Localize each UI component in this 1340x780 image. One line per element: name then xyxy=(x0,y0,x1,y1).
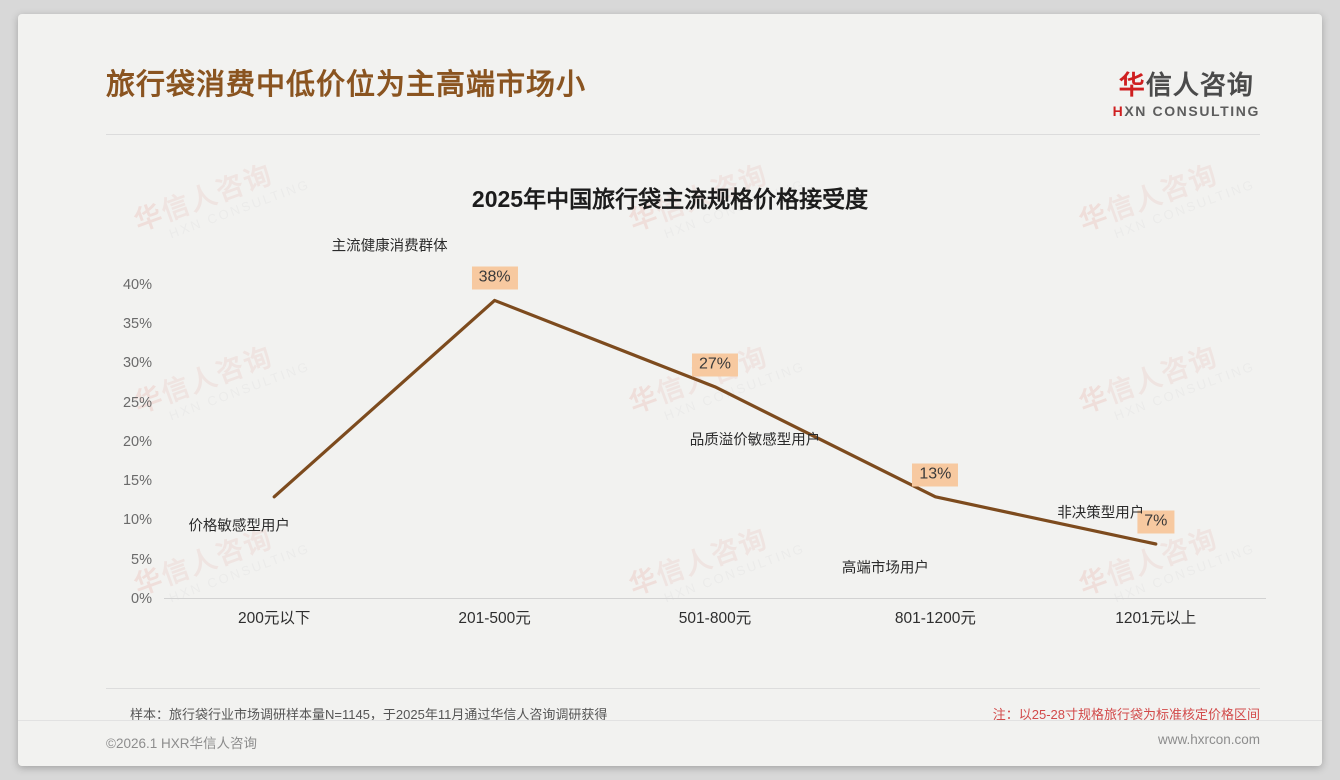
logo-en-red: H xyxy=(1113,103,1125,119)
y-axis-tick: 5% xyxy=(131,552,152,568)
y-axis-tick: 10% xyxy=(123,512,152,528)
series-annotation: 高端市场用户 xyxy=(842,556,929,577)
y-axis-labels: 0%5%10%15%20%25%30%35%40% xyxy=(106,269,152,599)
data-label: 38% xyxy=(472,267,518,290)
x-axis-tick: 200元以下 xyxy=(238,606,310,628)
data-label: 13% xyxy=(912,463,958,486)
y-axis-tick: 25% xyxy=(123,395,152,411)
series-annotation: 价格敏感型用户 xyxy=(188,514,290,535)
y-axis-tick: 15% xyxy=(123,473,152,489)
series-annotation: 主流健康消费群体 xyxy=(332,235,448,256)
series-annotation: 品质溢价敏感型用户 xyxy=(690,428,821,449)
y-axis-tick: 40% xyxy=(123,277,152,293)
y-axis-tick: 30% xyxy=(123,355,152,371)
chart-title: 2025年中国旅行袋主流规格价格接受度 xyxy=(18,180,1322,214)
page-title: 旅行袋消费中低价位为主高端市场小 xyxy=(106,61,586,103)
x-axis-tick: 501-800元 xyxy=(679,606,751,628)
line-series xyxy=(274,300,1156,544)
logo-en-rest: XN CONSULTING xyxy=(1124,103,1260,119)
slide-header: 旅行袋消费中低价位为主高端市场小 华信人咨询 HXN CONSULTING xyxy=(18,14,1322,132)
series-annotation: 非决策型用户 xyxy=(1057,502,1144,523)
chart-plot-area: 0%5%10%15%20%25%30%35%40% xyxy=(106,269,1266,599)
data-label: 27% xyxy=(692,353,738,376)
footer-divider xyxy=(106,688,1260,689)
y-axis-tick: 20% xyxy=(123,434,152,450)
x-axis-tick: 1201元以上 xyxy=(1115,606,1196,628)
logo-cn-red: 华 xyxy=(1119,70,1146,100)
logo-english: HXN CONSULTING xyxy=(1113,104,1260,118)
x-axis-tick: 801-1200元 xyxy=(895,606,976,628)
y-axis-tick: 0% xyxy=(131,591,152,607)
website-link[interactable]: www.hxrcon.com xyxy=(1158,732,1260,747)
y-axis-tick: 35% xyxy=(123,316,152,332)
footer-divider-bottom xyxy=(18,720,1322,721)
logo-cn-rest: 信人咨询 xyxy=(1146,70,1254,100)
copyright-text: ©2026.1 HXR华信人咨询 xyxy=(106,732,257,752)
header-divider xyxy=(106,134,1260,135)
brand-logo: 华信人咨询 HXN CONSULTING xyxy=(1113,72,1260,118)
slide: 华信人咨询 HXN CONSULTING 华信人咨询 HXN CONSULTIN… xyxy=(18,14,1322,766)
x-axis-tick: 201-500元 xyxy=(458,606,530,628)
x-axis-labels: 200元以下201-500元501-800元801-1200元1201元以上 xyxy=(164,606,1266,632)
logo-chinese: 华信人咨询 xyxy=(1113,72,1260,98)
